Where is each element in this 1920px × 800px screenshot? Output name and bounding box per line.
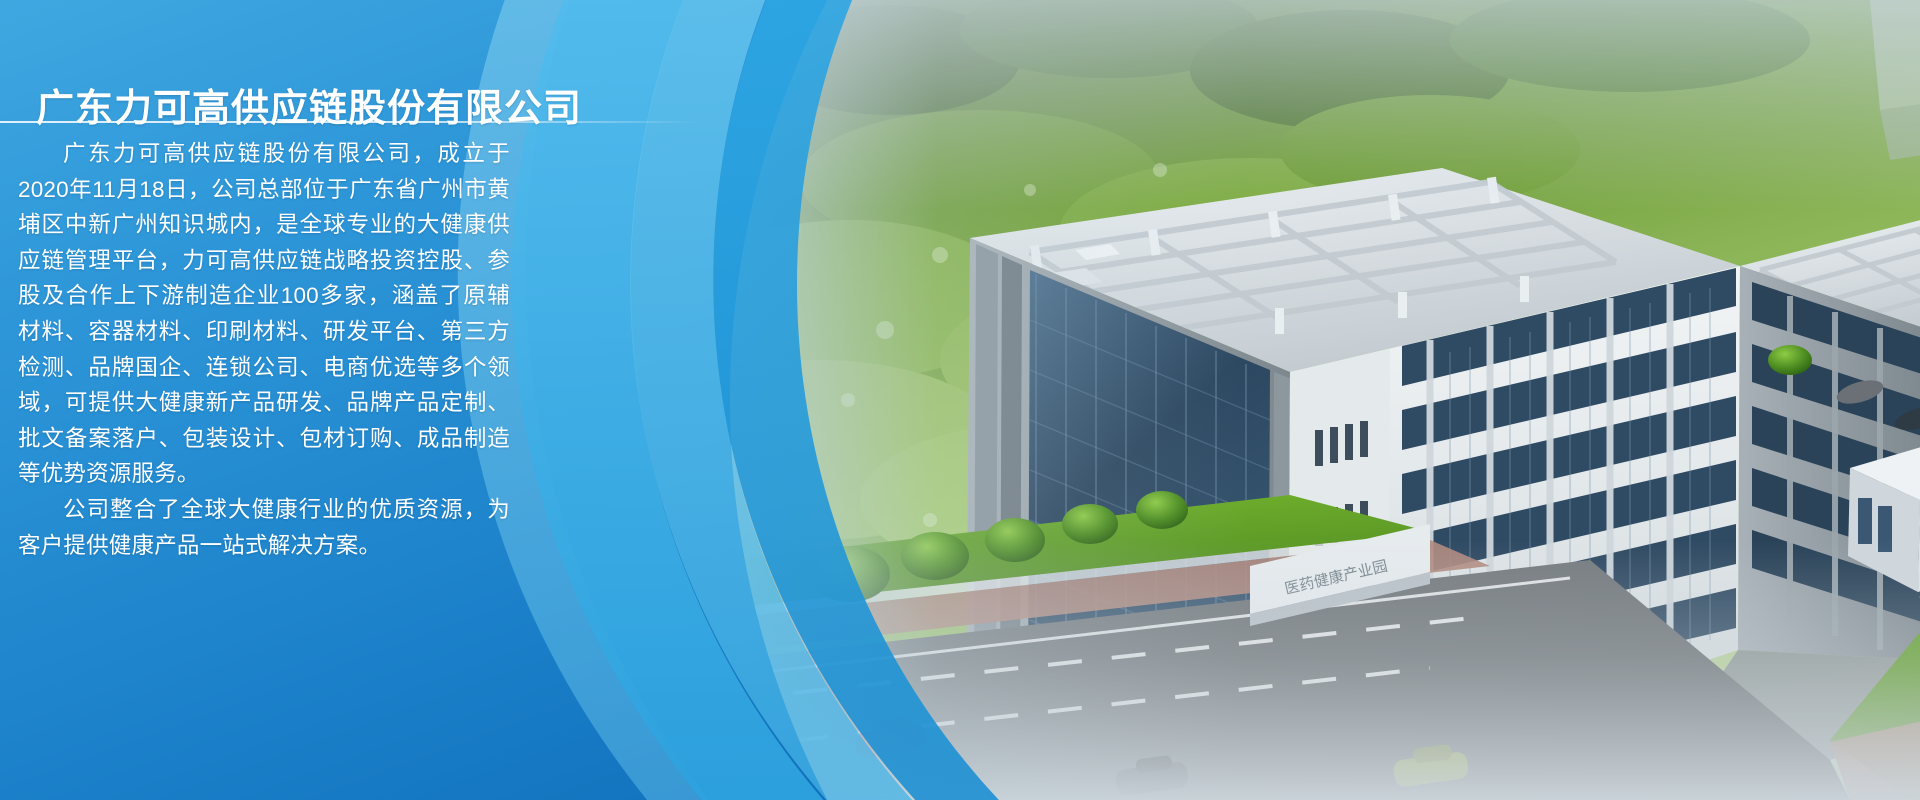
company-profile-banner: 医药健康产业园 [0,0,1920,800]
aerial-render-image: 医药健康产业园 [730,0,1920,800]
page-title: 广东力可高供应链股份有限公司 [36,77,582,132]
aerial-render-disc: 医药健康产业园 [730,0,1920,800]
company-description: 广东力可高供应链股份有限公司，成立于2020年11月18日，公司总部位于广东省广… [18,136,510,563]
text-panel: 广东力可高供应链股份有限公司 广东力可高供应链股份有限公司，成立于2020年11… [0,0,560,800]
paragraph-1: 广东力可高供应链股份有限公司，成立于2020年11月18日，公司总部位于广东省广… [18,136,510,492]
title-divider [0,121,700,123]
paragraph-2: 公司整合了全球大健康行业的优质资源，为客户提供健康产品一站式解决方案。 [18,492,510,563]
